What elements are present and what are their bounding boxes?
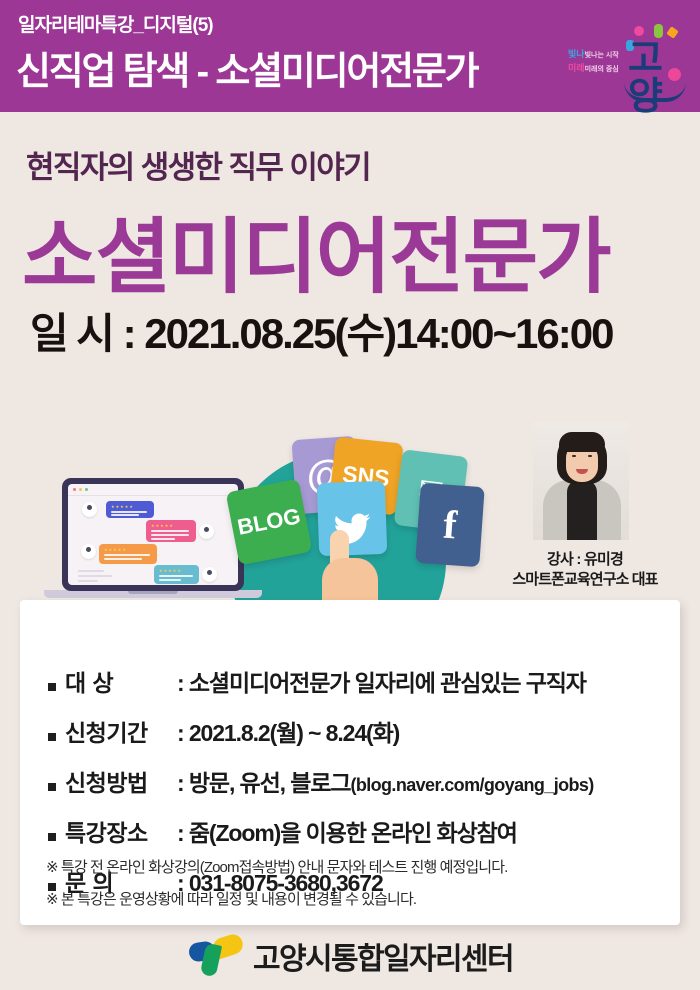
bubble-line (111, 514, 139, 516)
logo-dot-orange (666, 26, 679, 39)
bubble-line (151, 534, 189, 536)
poster-header: 일자리테마특강_디지털(5) 신직업 탐색 - 소셜미디어전문가 빛나빛나는 시… (0, 0, 700, 112)
detail-row-method: 신청방법 : 방문, 유선, 블로그(blog.naver.com/goyang… (48, 764, 668, 798)
review-bubble-orange: ★★★★★ (99, 544, 157, 564)
detail-value-text: 줌(Zoom)을 이용한 온라인 화상참여 (189, 820, 517, 846)
browser-dot-yellow (79, 488, 82, 491)
bullet-icon (48, 683, 56, 691)
detail-row-period: 신청기간 : 2021.8.2(월) ~ 8.24(화) (48, 714, 668, 748)
avatar (82, 502, 97, 517)
browser-bar (68, 484, 238, 496)
browser-dot-green (85, 488, 88, 491)
rating-stars: ★★★★★ (111, 504, 134, 509)
city-logo-line2: 미래미래의 중심 (568, 62, 630, 76)
detail-value-text: 2021.8.2(월) ~ 8.24(화) (189, 720, 399, 746)
bubble-line (111, 511, 147, 513)
bubble-line (159, 575, 193, 577)
bullet-icon (48, 833, 56, 841)
instructor-name: 강사 : 유미경 (490, 548, 680, 569)
review-bubble-teal: ★★★★★ (154, 565, 199, 584)
instructor-eye-left (572, 455, 576, 457)
rating-stars: ★★★★★ (159, 568, 182, 573)
detail-value: : 줌(Zoom)을 이용한 온라인 화상참여 (177, 814, 517, 848)
placeholder-line (78, 570, 104, 572)
footnote-1: ※ 특강 전 온라인 화상강의(Zoom접속방법) 안내 문자와 테스트 진행 … (46, 856, 666, 877)
details-panel: 대 상 : 소셜미디어전문가 일자리에 관심있는 구직자 신청기간 : 2021… (20, 600, 680, 925)
bubble-line (151, 530, 189, 532)
logo-dot-green (654, 24, 663, 38)
instructor-bangs (559, 432, 605, 452)
header-kicker: 일자리테마특강_디지털(5) (18, 10, 213, 37)
hero-title: 소셜미디어전문가 (22, 190, 610, 309)
avatar (81, 544, 96, 559)
bubble-line (104, 558, 142, 560)
detail-row-target: 대 상 : 소셜미디어전문가 일자리에 관심있는 구직자 (48, 664, 668, 698)
detail-value: : 방문, 유선, 블로그(blog.naver.com/goyang_jobs… (177, 764, 594, 798)
jobcenter-logo-icon (187, 934, 245, 978)
footnotes: ※ 특강 전 온라인 화상강의(Zoom접속방법) 안내 문자와 테스트 진행 … (46, 856, 666, 920)
hero-subtitle: 현직자의 생생한 직무 이야기 (26, 142, 370, 187)
blog-card: BLOG (226, 479, 313, 566)
placeholder-line (78, 580, 98, 582)
poster-footer: 고양시통합일자리센터 (0, 934, 700, 990)
bubble-line (151, 538, 175, 540)
detail-value-text: 방문, 유선, 블로그 (189, 770, 351, 796)
city-logo-line1: 빛나빛나는 시작 (568, 48, 630, 62)
detail-value-text: 소셜미디어전문가 일자리에 관심있는 구직자 (189, 670, 586, 696)
rating-stars: ★★★★★ (151, 523, 174, 528)
instructor-eye-right (588, 455, 592, 457)
footnote-2: ※ 본 특강은 운영상황에 따라 일정 및 내용이 변경될 수 있습니다. (46, 888, 666, 909)
avatar (202, 567, 217, 582)
review-bubble-pink: ★★★★★ (146, 520, 196, 542)
footer-brand: 고양시통합일자리센터 (0, 934, 700, 978)
detail-row-venue: 특강장소 : 줌(Zoom)을 이용한 온라인 화상참여 (48, 814, 668, 848)
blog-url: (blog.naver.com/goyang_jobs) (350, 775, 593, 795)
bubble-line (159, 579, 181, 581)
bullet-icon (48, 783, 56, 791)
detail-label: 대 상 (65, 664, 177, 698)
instructor-affiliation: 스마트폰교육연구소 대표 (485, 568, 685, 589)
organization-name: 고양시통합일자리센터 (253, 934, 513, 978)
detail-value: : 소셜미디어전문가 일자리에 관심있는 구직자 (177, 664, 586, 698)
city-logo-slogan: 빛나빛나는 시작 미래미래의 중심 (568, 48, 630, 76)
laptop-icon: ★★★★★ ★★★★★ ★★★★★ (62, 478, 244, 591)
detail-label: 신청방법 (65, 764, 177, 798)
review-bubble-blue: ★★★★★ (106, 501, 154, 518)
laptop-screen: ★★★★★ ★★★★★ ★★★★★ (68, 484, 238, 585)
goyang-city-logo: 빛나빛나는 시작 미래미래의 중심 고양 (568, 24, 688, 96)
instructor-inner-top (567, 480, 597, 540)
browser-dot-red (73, 488, 76, 491)
instructor-photo (533, 422, 629, 540)
facebook-card: f (415, 483, 484, 567)
logo-accent-pink (668, 68, 681, 81)
detail-value: : 2021.8.2(월) ~ 8.24(화) (177, 714, 399, 748)
placeholder-line (78, 575, 112, 577)
rating-stars: ★★★★★ (104, 547, 127, 552)
logo-dot-pink (634, 26, 644, 36)
bubble-line (104, 554, 150, 556)
poster-root: 일자리테마특강_디지털(5) 신직업 탐색 - 소셜미디어전문가 빛나빛나는 시… (0, 0, 700, 990)
avatar (199, 524, 214, 539)
detail-label: 신청기간 (65, 714, 177, 748)
header-title: 신직업 탐색 - 소셜미디어전문가 (16, 40, 477, 95)
event-datetime: 일 시 : 2021.08.25(수)14:00~16:00 (30, 300, 612, 361)
bullet-icon (48, 733, 56, 741)
detail-label: 특강장소 (65, 814, 177, 848)
